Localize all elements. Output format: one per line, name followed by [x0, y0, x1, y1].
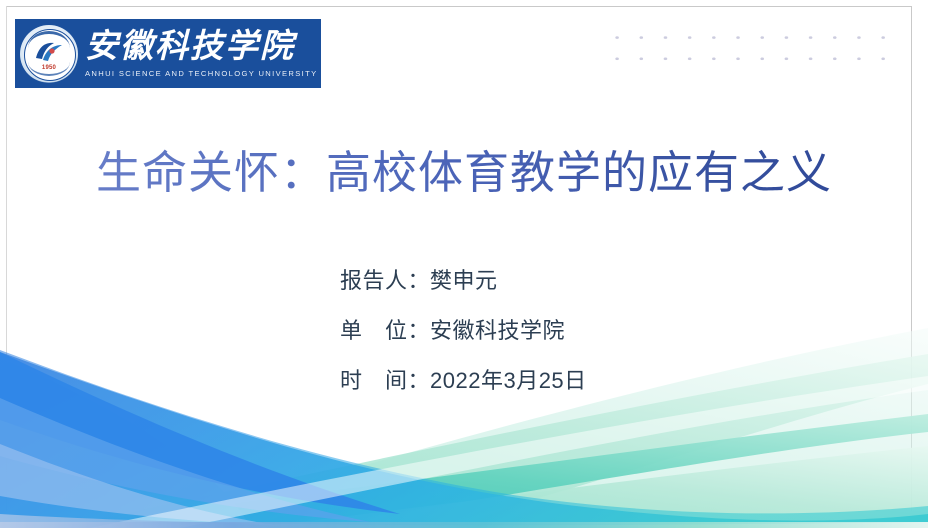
slide-frame-left-line	[6, 6, 7, 511]
seal-bird-wave-icon	[33, 40, 65, 64]
meta-value-affiliation: 安徽科技学院	[430, 318, 565, 343]
slide-meta-block: 报告人：樊申元 单 位：安徽科技学院 时 间：2022年3月25日	[340, 256, 587, 406]
university-seal-icon: 1950	[20, 25, 78, 83]
meta-label-presenter: 报告人：	[340, 256, 430, 306]
dot-grid-decoration	[605, 27, 901, 75]
slide-frame-top-line	[6, 6, 912, 7]
meta-value-presenter: 樊申元	[430, 268, 498, 293]
logo-chinese-name: 安徽科技学院	[85, 28, 318, 67]
university-logo: 1950 安徽科技学院 ANHUI SCIENCE AND TECHNOLOGY…	[15, 19, 321, 88]
logo-text-block: 安徽科技学院 ANHUI SCIENCE AND TECHNOLOGY UNIV…	[85, 28, 321, 79]
seal-year-label: 1950	[20, 65, 78, 71]
meta-label-date: 时 间：	[340, 356, 430, 406]
slide-frame-right-line	[911, 6, 912, 511]
meta-value-date: 2022年3月25日	[430, 368, 587, 393]
meta-row-date: 时 间：2022年3月25日	[340, 356, 587, 406]
meta-row-affiliation: 单 位：安徽科技学院	[340, 306, 587, 356]
presentation-slide: 1950 安徽科技学院 ANHUI SCIENCE AND TECHNOLOGY…	[0, 0, 928, 528]
slide-title: 生命关怀：高校体育教学的应有之义	[0, 143, 928, 203]
meta-label-affiliation: 单 位：	[340, 306, 430, 356]
meta-row-presenter: 报告人：樊申元	[340, 256, 587, 306]
logo-english-name: ANHUI SCIENCE AND TECHNOLOGY UNIVERSITY	[85, 68, 318, 79]
